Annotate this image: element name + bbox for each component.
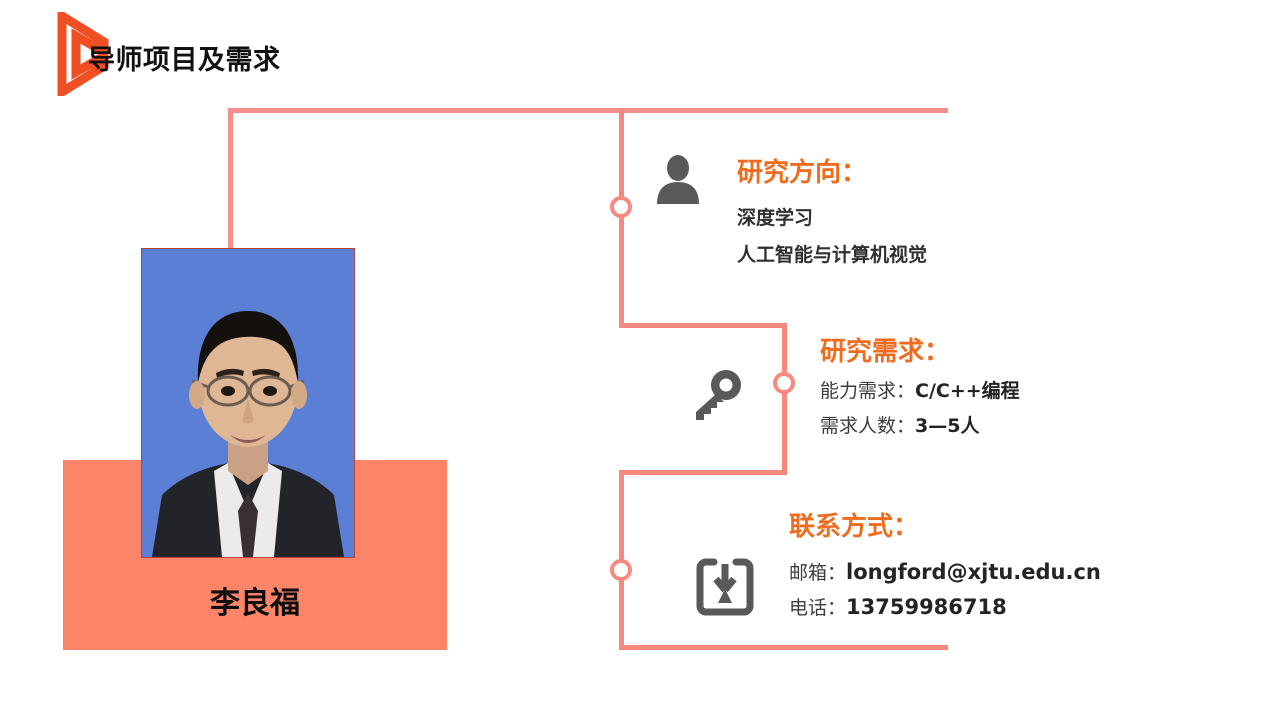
headcount-value: 3—5人 — [915, 415, 979, 437]
slide-root: 导师项目及需求 — [0, 0, 1280, 720]
headcount-label: 需求人数： — [820, 415, 915, 437]
connector-line-left-vertical — [228, 108, 233, 250]
contact-phone-line: 电话：13759986718 — [789, 593, 1007, 620]
connector-node-research-direction — [610, 196, 632, 218]
phone-label: 电话： — [789, 597, 846, 619]
research-requirements-line-2: 需求人数：3—5人 — [820, 411, 979, 438]
connector-node-contact — [610, 559, 632, 581]
research-requirements-line-1: 能力需求：C/C++编程 — [820, 376, 1020, 403]
research-direction-line-1: 深度学习 — [737, 203, 813, 230]
page-title: 导师项目及需求 — [88, 38, 281, 77]
person-icon — [650, 152, 706, 213]
connector-line-middle-bottom-horizontal — [619, 470, 787, 475]
connector-line-middle-vertical — [782, 323, 787, 475]
avatar — [141, 248, 355, 558]
section-heading-contact: 联系方式： — [789, 506, 919, 543]
email-label: 邮箱： — [789, 562, 846, 584]
connector-line-top-horizontal — [228, 108, 948, 113]
phone-value: 13759986718 — [846, 595, 1007, 619]
profile-name: 李良福 — [63, 578, 447, 622]
connector-line-bottom-horizontal — [619, 645, 948, 650]
download-save-icon — [694, 556, 756, 623]
section-heading-research-requirements: 研究需求： — [820, 331, 950, 368]
research-direction-line-2: 人工智能与计算机视觉 — [737, 240, 927, 267]
ability-requirement-value: C/C++编程 — [915, 380, 1020, 402]
section-heading-research-direction: 研究方向： — [737, 152, 867, 189]
email-value: longford@xjtu.edu.cn — [846, 560, 1101, 584]
connector-line-trunk-upper — [619, 108, 624, 328]
ability-requirement-label: 能力需求： — [820, 380, 915, 402]
contact-email-line: 邮箱：longford@xjtu.edu.cn — [789, 558, 1101, 585]
connector-line-middle-top-horizontal — [619, 323, 787, 328]
key-icon — [684, 368, 748, 431]
connector-node-research-requirements — [773, 372, 795, 394]
